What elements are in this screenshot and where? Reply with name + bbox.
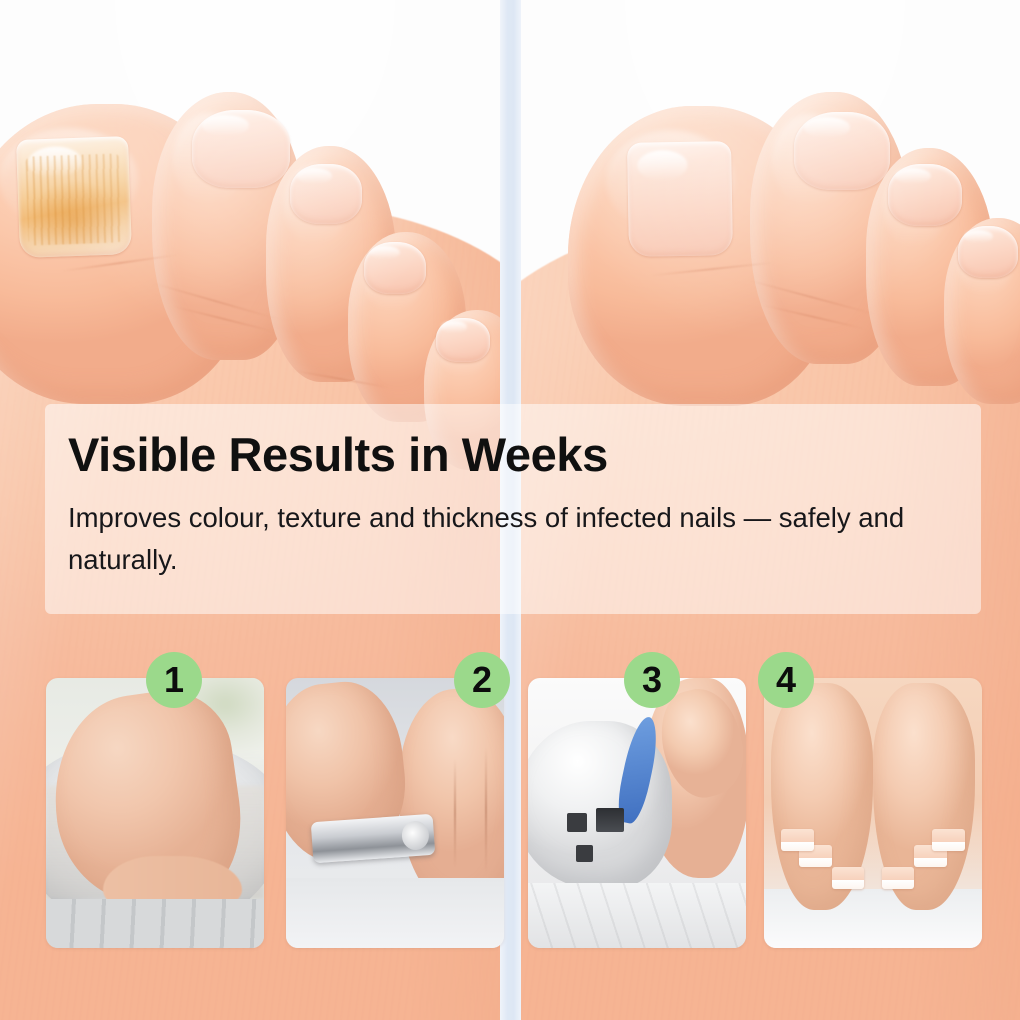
step-healthy-nails[interactable]: 4 <box>764 678 982 948</box>
promo-banner: Visible Results in Weeks Improves colour… <box>0 0 1020 1020</box>
headline-panel: Visible Results in Weeks Improves colour… <box>45 404 981 614</box>
device-button <box>576 845 593 861</box>
toe-separation <box>454 759 456 867</box>
step-3-image <box>528 678 746 948</box>
step-1-image <box>46 678 264 948</box>
toenail <box>882 867 915 889</box>
fourth-toenail <box>364 242 426 294</box>
healthy-big-toenail <box>627 141 733 257</box>
device-display <box>596 808 624 832</box>
third-toenail <box>888 164 962 226</box>
page-subtitle: Improves colour, texture and thickness o… <box>68 497 948 582</box>
second-toenail <box>192 110 290 188</box>
toenail <box>781 829 814 851</box>
toe-separation <box>485 748 487 872</box>
second-toenail <box>794 112 890 190</box>
step-trim-nails[interactable]: 2 <box>286 678 504 948</box>
fourth-toenail <box>958 226 1018 278</box>
step-number-badge-2: 2 <box>454 652 510 708</box>
step-file-nails[interactable]: 3 <box>528 678 746 948</box>
marble-surface <box>528 883 746 948</box>
steps-row: 1 2 <box>0 652 1020 952</box>
step-2-image <box>286 678 504 948</box>
page-title: Visible Results in Weeks <box>68 430 951 480</box>
toenail <box>832 867 865 889</box>
step-4-image <box>764 678 982 948</box>
third-toenail <box>290 164 362 224</box>
toenail <box>932 829 965 851</box>
towel-surface <box>286 878 504 948</box>
step-soak-feet[interactable]: 1 <box>46 678 264 948</box>
wooden-floor <box>46 899 264 948</box>
device-button <box>567 813 587 832</box>
step-number-badge-4: 4 <box>758 652 814 708</box>
step-number-badge-3: 3 <box>624 652 680 708</box>
fifth-toenail <box>436 318 490 362</box>
step-number-badge-1: 1 <box>146 652 202 708</box>
infected-big-toenail <box>16 136 132 258</box>
